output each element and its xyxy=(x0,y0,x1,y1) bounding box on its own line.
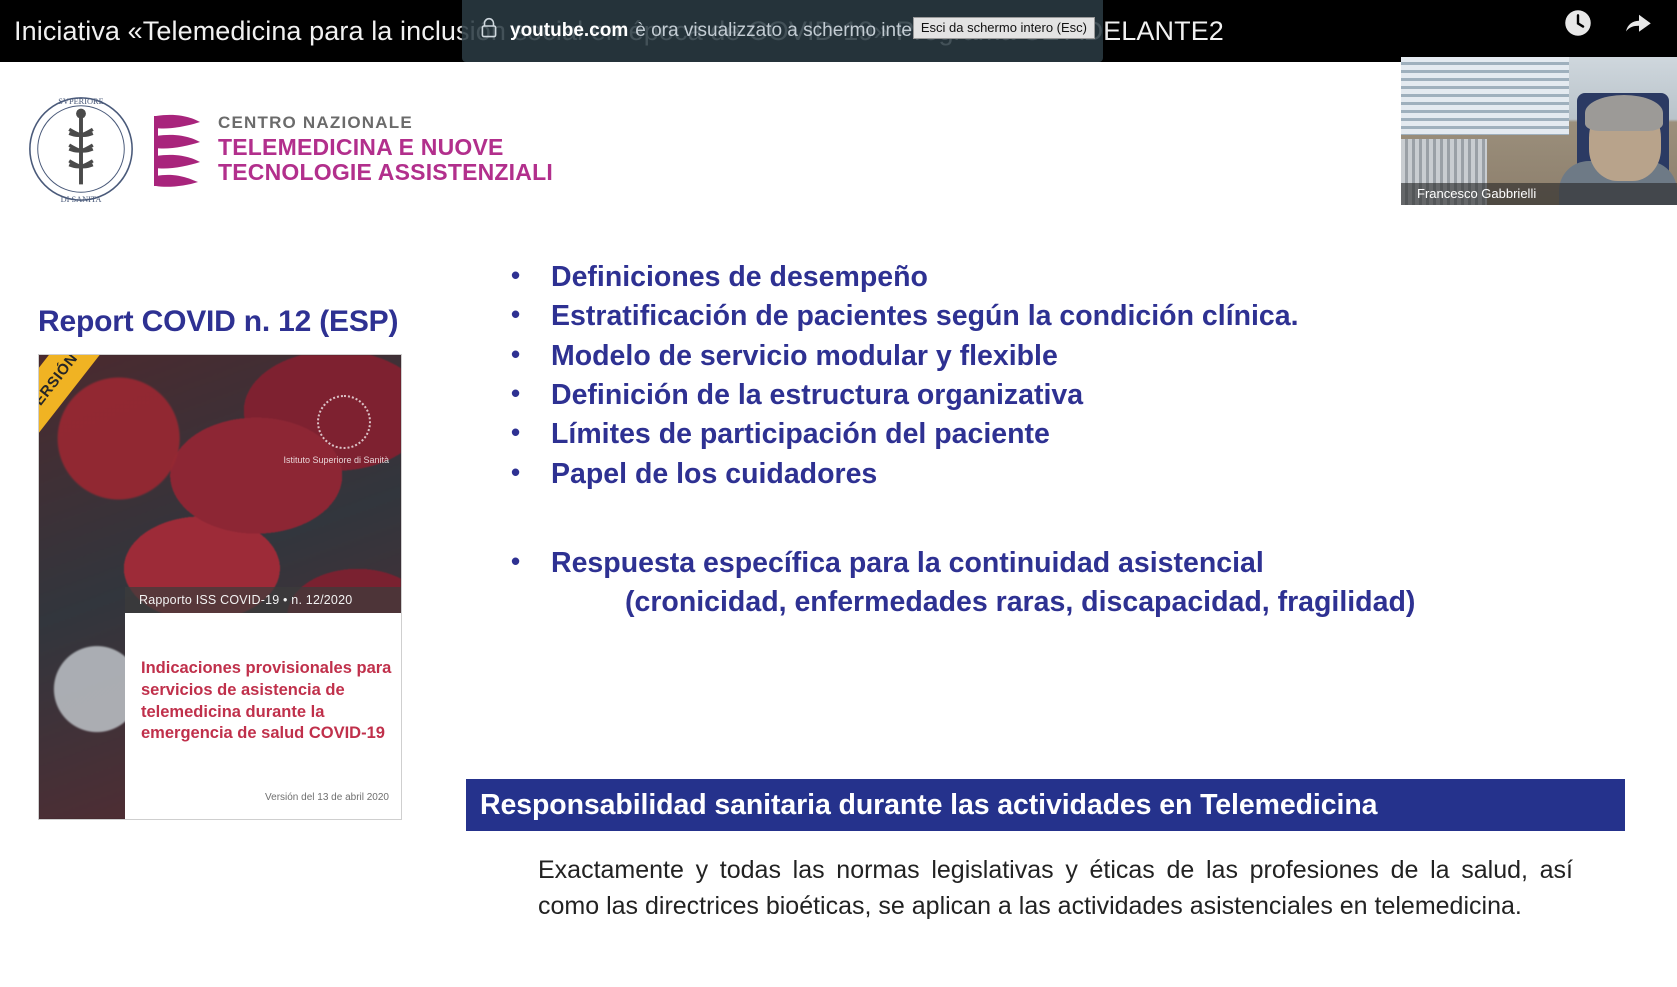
cover-heading: Indicaciones provisionales para servicio… xyxy=(141,658,402,745)
bullet-marker-icon: • xyxy=(505,376,551,412)
notification-message: è ora visualizzato a schermo intero xyxy=(635,20,929,42)
bullet-text: Papel de los cuidadores xyxy=(551,455,877,494)
fullscreen-notification: youtube.com è ora visualizzato a schermo… xyxy=(462,0,1103,62)
cover-title-box: Indicaciones provisionales para servicio… xyxy=(125,613,402,820)
player-action-buttons xyxy=(1561,6,1655,40)
bullet-marker-icon: • xyxy=(505,297,551,333)
report-title: Report COVID n. 12 (ESP) xyxy=(38,305,398,339)
logo-line-1: CENTRO NAZIONALE xyxy=(218,114,553,131)
lock-icon xyxy=(480,17,510,45)
list-item-final: • Respuesta específica para la continuid… xyxy=(505,544,1625,583)
list-item: • Límites de participación del paciente xyxy=(505,415,1625,454)
cover-report-strip: Rapporto ISS COVID-19 • n. 12/2020 xyxy=(125,587,402,613)
logo-line-3: TECNOLOGIE ASSISTENZIALI xyxy=(218,161,553,184)
bullet-text: Respuesta específica para la continuidad… xyxy=(551,544,1264,583)
slide-bullet-list: • Definiciones de desempeño • Estratific… xyxy=(505,258,1625,623)
bullet-marker-icon: • xyxy=(505,337,551,373)
centro-nazionale-wordmark: CENTRO NAZIONALE TELEMEDICINA E NUOVE TE… xyxy=(218,114,553,184)
bullet-text: Estratificación de pacientes según la co… xyxy=(551,297,1299,336)
share-icon[interactable] xyxy=(1621,6,1655,40)
report-cover-image: VERSIÓN EN ESPAÑOL Istituto Superiore di… xyxy=(38,354,402,820)
exit-fullscreen-button[interactable]: Esci da schermo intero (Esc) xyxy=(913,17,1095,39)
list-item: • Definición de la estructura organizati… xyxy=(505,376,1625,415)
banner-text: Responsabilidad sanitaria durante las ac… xyxy=(480,789,1377,822)
cover-strip-label: Rapporto ISS COVID-19 • n. 12/2020 xyxy=(139,593,352,607)
speaker-webcam-overlay: Francesco Gabbrielli xyxy=(1401,57,1677,205)
bullet-text: Límites de participación del paciente xyxy=(551,415,1050,454)
bullet-marker-icon: • xyxy=(505,455,551,491)
bullet-text: Definición de la estructura organizativa xyxy=(551,376,1083,415)
bullet-text: Modelo de servicio modular y flexible xyxy=(551,337,1058,376)
youtube-fullscreen-player: Iniciativa «Telemedicina para la inclusi… xyxy=(0,0,1677,987)
list-item: • Modelo de servicio modular y flexible xyxy=(505,337,1625,376)
bullet-text: Definiciones de desempeño xyxy=(551,258,928,297)
speaker-name-label: Francesco Gabbrielli xyxy=(1401,183,1677,205)
bullet-marker-icon: • xyxy=(505,415,551,451)
logo-line-2: TELEMEDICINA E NUOVE xyxy=(218,136,553,159)
cover-seal-label: Istituto Superiore di Sanità xyxy=(283,455,389,465)
webcam-speaker-hair xyxy=(1585,95,1663,131)
svg-text:SVPERIORE: SVPERIORE xyxy=(58,97,103,106)
bullet-marker-icon: • xyxy=(505,544,551,580)
cover-version-label: Versión del 13 de abril 2020 xyxy=(265,792,389,803)
watch-later-icon[interactable] xyxy=(1561,6,1595,40)
responsibility-banner: Responsabilidad sanitaria durante las ac… xyxy=(466,779,1625,831)
webcam-window-blinds xyxy=(1401,57,1569,135)
list-item: • Estratificación de pacientes según la … xyxy=(505,297,1625,336)
notification-domain: youtube.com xyxy=(510,20,628,42)
bullet-marker-icon: • xyxy=(505,258,551,294)
slide-paragraph: Exactamente y todas las normas legislati… xyxy=(538,852,1573,925)
list-item: • Papel de los cuidadores xyxy=(505,455,1625,494)
centro-nazionale-mark-icon xyxy=(148,110,206,188)
svg-text:DI SANITA: DI SANITA xyxy=(61,195,102,204)
final-bullet-subtext: (cronicidad, enfermedades raras, discapa… xyxy=(505,583,1625,622)
iss-seal-logo-icon: SVPERIORE DI SANITA xyxy=(22,90,140,208)
list-item: • Definiciones de desempeño xyxy=(505,258,1625,297)
cover-iss-seal-icon xyxy=(317,395,371,449)
slide-logos: SVPERIORE DI SANITA CENTRO NAZIONALE TEL… xyxy=(22,90,553,208)
